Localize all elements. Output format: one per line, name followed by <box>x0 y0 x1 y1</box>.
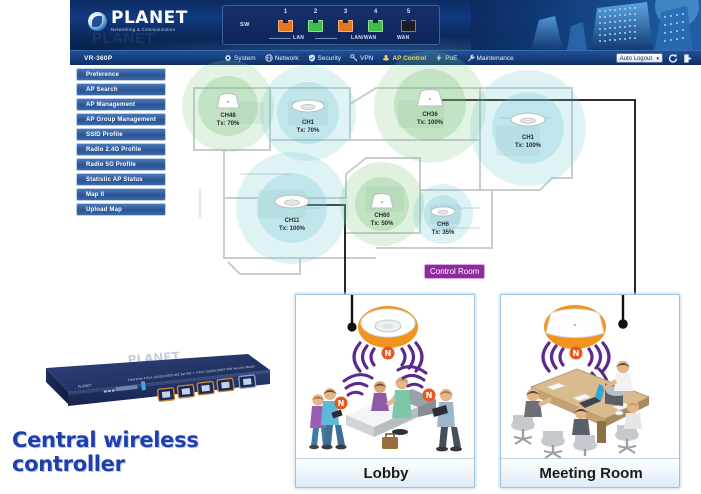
svg-text:N: N <box>426 391 433 400</box>
port-number-3: 3 <box>338 9 353 15</box>
sidebar-item-radio-24g-profile[interactable]: Radio 2.4G Profile <box>76 143 166 156</box>
key-icon <box>350 54 358 62</box>
cityscape-decor <box>471 0 701 50</box>
planet-logo-mark-icon <box>88 12 107 31</box>
refresh-icon[interactable] <box>668 53 678 64</box>
svg-text:N: N <box>338 399 345 408</box>
port-number-5: 5 <box>401 9 416 15</box>
ap-device-disc-icon <box>291 99 325 113</box>
port-group-lanwan: LAN/WAN <box>351 35 376 41</box>
ap-label-ch6: CH6Tx: 35% <box>432 221 455 237</box>
port-sw-label: SW <box>240 22 250 28</box>
ap-device-disc-icon <box>274 194 310 209</box>
port-group-wan: WAN <box>397 35 410 41</box>
port-jack-1 <box>278 20 293 32</box>
front-panel-graphic: SW 1 2 3 4 5 LAN LAN/WAN WAN <box>222 5 440 45</box>
sidebar-item-ssid-profile[interactable]: SSID Profile <box>76 128 166 141</box>
svg-text:N: N <box>385 349 392 358</box>
room-label-lobby: Lobby <box>296 458 475 487</box>
nav-item-label-network: Network <box>275 55 299 62</box>
sidebar-item-ap-search[interactable]: AP Search <box>76 83 166 96</box>
sidebar-item-ap-group-management[interactable]: AP Group Management <box>76 113 166 126</box>
ap-halo-inner <box>492 92 564 164</box>
ap-control-sidebar: Preference AP Search AP Management AP Gr… <box>76 68 166 218</box>
port-number-1: 1 <box>278 9 293 15</box>
port-jack-3 <box>338 20 353 32</box>
port-number-4: 4 <box>368 9 383 15</box>
ap-label-ch48: CH48Tx: 70% <box>217 112 240 128</box>
sidebar-item-statistic-ap-status[interactable]: Statistic AP Status <box>76 173 166 186</box>
control-room-badge: Control Room <box>424 264 485 279</box>
nav-item-network[interactable]: Network <box>265 54 299 62</box>
planet-logo: PLANET Networking & Communication <box>88 10 188 32</box>
room-panel-lobby[interactable]: N <box>295 294 475 488</box>
app-header: PLANET Networking & Communication PLANET… <box>70 0 701 50</box>
meeting-room-illustration: N N <box>501 295 680 460</box>
auto-logout-select[interactable]: Auto Logout <box>616 53 663 63</box>
nav-right-controls: Auto Logout <box>616 53 693 64</box>
device-model-label: VR-360P <box>84 55 224 62</box>
sidebar-item-upload-map[interactable]: Upload Map <box>76 203 166 216</box>
port-jack-5 <box>401 20 416 32</box>
ap-label-ch60: CH60Tx: 50% <box>371 212 394 228</box>
ap-control-icon <box>382 54 390 62</box>
brand-name: PLANET <box>111 10 188 27</box>
port-jack-2 <box>308 20 323 32</box>
ap-label-ch1-b: CH1Tx: 100% <box>515 134 541 150</box>
lobby-illustration: N <box>296 295 475 460</box>
globe-icon <box>265 54 273 62</box>
sidebar-item-preference[interactable]: Preference <box>76 68 166 81</box>
logout-icon[interactable] <box>683 53 693 64</box>
nav-item-maintenance[interactable]: Maintenance <box>467 54 514 62</box>
wrench-icon <box>467 54 475 62</box>
sidebar-item-ap-management[interactable]: AP Management <box>76 98 166 111</box>
ap-device-disc-icon <box>430 206 456 217</box>
sidebar-item-map-ii[interactable]: Map II <box>76 188 166 201</box>
port-jack-4 <box>368 20 383 32</box>
ap-device-disc-icon <box>510 112 546 127</box>
app-root: PLANET Networking & Communication PLANET… <box>0 0 701 494</box>
svg-text:N: N <box>573 349 580 358</box>
product-photo-vr360p: PLANET Enterprise 4-Port 10/100/1000T 80… <box>8 348 273 428</box>
product-caption: Central wireless controller <box>12 428 292 476</box>
ap-device-dome-icon <box>413 88 447 108</box>
port-number-2: 2 <box>308 9 323 15</box>
port-group-lan: LAN <box>293 35 304 41</box>
nav-item-label-vpn: VPN <box>360 55 373 62</box>
nav-item-label-security: Security <box>318 55 341 62</box>
brand-watermark: PLANET <box>92 30 155 47</box>
main-nav-bar: VR-360P System Network <box>70 50 701 65</box>
room-label-meeting: Meeting Room <box>501 458 680 487</box>
nav-item-vpn[interactable]: VPN <box>350 54 373 62</box>
nav-item-security[interactable]: Security <box>308 54 341 62</box>
ap-device-dome-icon <box>367 192 397 210</box>
ap-device-dome-icon <box>213 92 243 110</box>
sidebar-item-radio-5g-profile[interactable]: Radio 5G Profile <box>76 158 166 171</box>
ap-label-ch36: CH36Tx: 100% <box>417 111 443 127</box>
ap-label-ch11: CH11Tx: 100% <box>279 217 305 233</box>
ap-label-ch1-a: CH1Tx: 70% <box>297 119 320 135</box>
shield-icon <box>308 54 316 62</box>
room-panel-meeting[interactable]: N N <box>500 294 680 488</box>
nav-item-label-maintenance: Maintenance <box>477 55 514 62</box>
